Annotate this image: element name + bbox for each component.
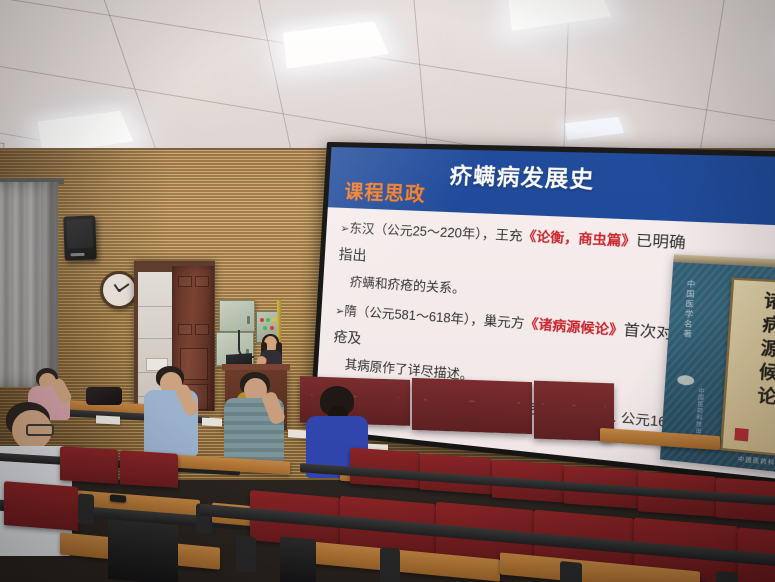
led-green-icon [266, 318, 270, 322]
slide-badge: 课程思政 [344, 177, 427, 207]
speaker-grill [66, 219, 93, 249]
wall-speaker [63, 215, 97, 260]
seat-bracket [560, 561, 582, 582]
podium-top [222, 364, 290, 370]
led-red-icon [260, 318, 264, 322]
seat-back[interactable] [4, 481, 78, 531]
seat-bracket [380, 547, 400, 582]
bullet-lead-text: 隋（公元581～618年），巢元方 [344, 304, 525, 331]
audience-seating [0, 372, 775, 582]
bullet-highlight-text: 《诸病源候论》 [524, 316, 624, 338]
attendee-blue-shirt [142, 366, 214, 458]
seat-bracket [716, 571, 738, 582]
seat-bracket [236, 535, 256, 573]
attendee-glasses-icon [26, 424, 54, 436]
lecture-hall-photo: 疥螨病发展史 课程思政 ➢东汉（公元25～220年），王充《论衡，商虫篇》已明确… [0, 0, 775, 582]
electrical-cabinet-upper [219, 300, 255, 332]
seat-back[interactable] [120, 450, 178, 488]
seat-leg-panel [108, 519, 178, 582]
desk-surface [600, 428, 720, 450]
bullet-lead-text: 东汉（公元25～220年），王充 [349, 221, 523, 243]
seat-back[interactable] [60, 446, 118, 484]
clock-center-pin [118, 289, 121, 292]
window-curtain [0, 182, 58, 387]
front-desk-panel [412, 378, 532, 434]
led-indicator-icon [263, 326, 267, 330]
mobile-phone[interactable] [110, 494, 126, 502]
seat-bracket [78, 493, 94, 524]
slide-title: 疥螨病发展史 [449, 159, 596, 195]
speaker-label [71, 253, 85, 256]
wall-clock [100, 271, 138, 309]
attendee-striped-shirt [224, 372, 302, 464]
led-yellow-icon [272, 318, 276, 322]
bullet-highlight-text: 《论衡，商虫篇》 [522, 229, 636, 249]
led-indicator-icon [270, 326, 274, 330]
paper-notes [96, 415, 120, 424]
seat-leg-panel [280, 536, 316, 582]
